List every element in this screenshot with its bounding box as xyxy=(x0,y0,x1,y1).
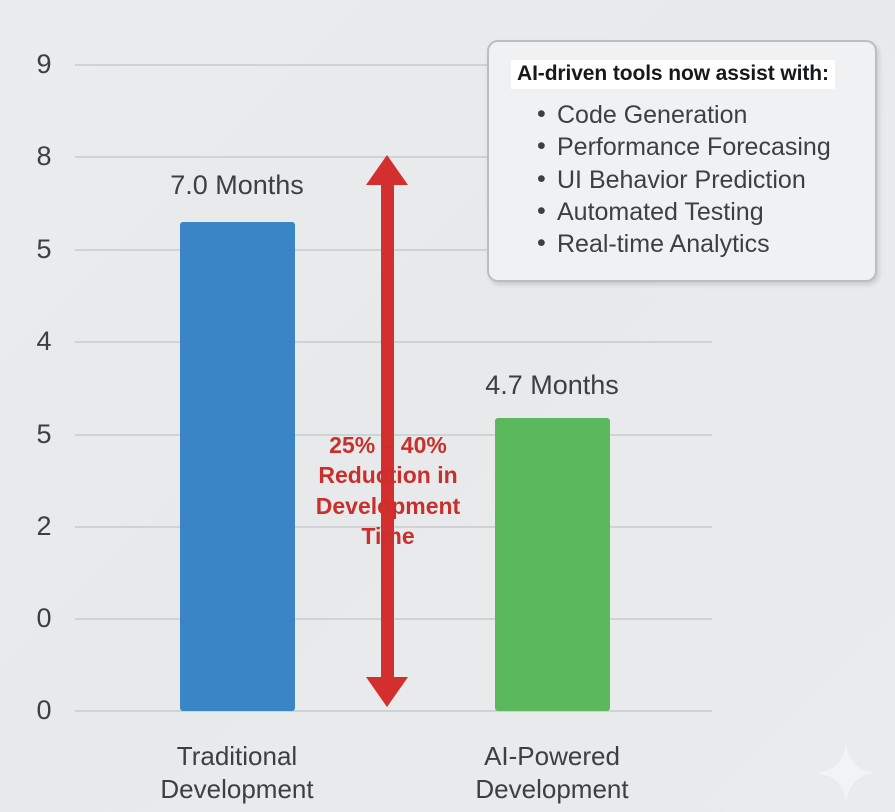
callout-title: AI-driven tools now assist with: xyxy=(511,60,835,89)
y-axis-tick-label: 0 xyxy=(22,697,66,724)
arrow-down-head-icon xyxy=(366,677,408,707)
callout-list: Code Generation Performance Forecasing U… xyxy=(511,99,853,260)
y-axis-tick-label: 2 xyxy=(22,513,66,540)
bar-value-label-traditional: 7.0 Months xyxy=(137,172,337,199)
bar-traditional-development[interactable] xyxy=(180,222,295,711)
y-axis-tick-label: 9 xyxy=(22,51,66,78)
gridline xyxy=(75,710,712,712)
ai-tools-callout-panel: AI-driven tools now assist with: Code Ge… xyxy=(487,40,877,282)
list-item: UI Behavior Prediction xyxy=(511,164,853,196)
category-line-2: Development xyxy=(137,773,337,806)
category-line-1: Traditional xyxy=(137,740,337,773)
y-axis-tick-label: 5 xyxy=(22,421,66,448)
y-axis-tick-label: 0 xyxy=(22,605,66,632)
x-axis-category-label-ai-powered: AI-Powered Development xyxy=(452,740,652,807)
reduction-line-2: Reduction in xyxy=(288,460,488,490)
y-axis-tick-label: 8 xyxy=(22,143,66,170)
reduction-line-3: Development xyxy=(288,491,488,521)
list-item: Automated Testing xyxy=(511,196,853,228)
category-line-2: Development xyxy=(452,773,652,806)
y-axis-tick-label: 5 xyxy=(22,236,66,263)
bar-value-label-ai-powered: 4.7 Months xyxy=(452,372,652,399)
bar-ai-powered-development[interactable] xyxy=(495,418,610,711)
reduction-annotation-text: 25% – 40% Reduction in Development Time xyxy=(288,430,488,551)
list-item: Code Generation xyxy=(511,99,853,131)
sparkle-star-icon xyxy=(815,742,877,804)
reduction-line-4: Time xyxy=(288,521,488,551)
y-axis-tick-label: 4 xyxy=(22,328,66,355)
reduction-line-1: 25% – 40% xyxy=(288,430,488,460)
chart-canvas: 9 8 5 4 5 2 0 0 7.0 Months 4.7 Months Tr… xyxy=(0,0,895,812)
category-line-1: AI-Powered xyxy=(452,740,652,773)
list-item: Real-time Analytics xyxy=(511,228,853,260)
x-axis-category-label-traditional: Traditional Development xyxy=(137,740,337,807)
list-item: Performance Forecasing xyxy=(511,131,853,163)
